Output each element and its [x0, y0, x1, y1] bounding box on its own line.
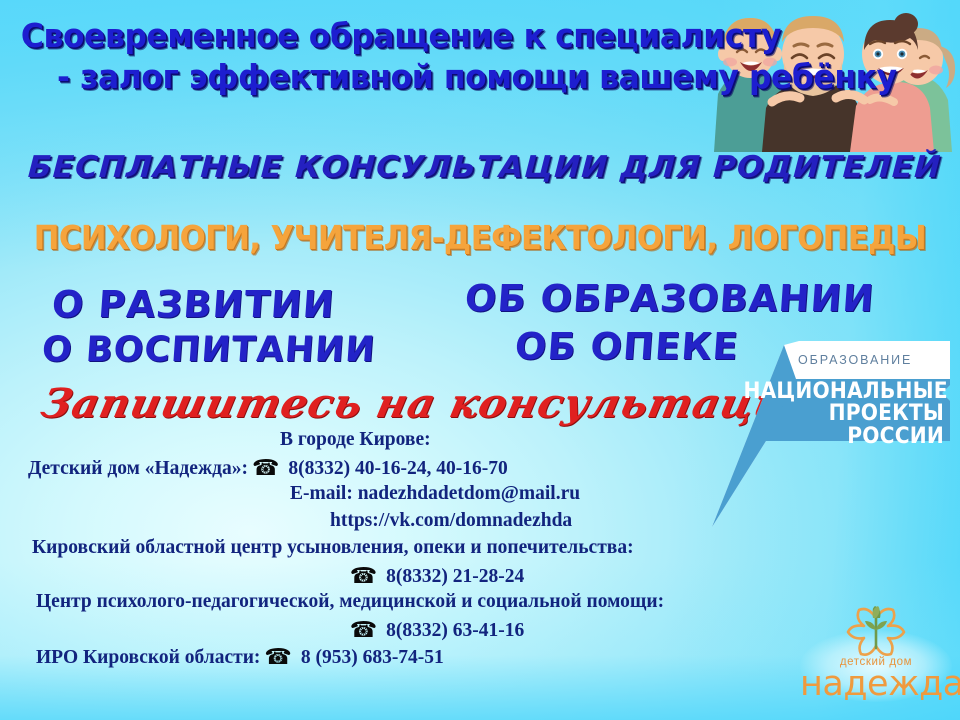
contact-psy-center-phone-row: ☎ 8(8332) 63-41-16 [0, 619, 870, 646]
contact-detdom-phone: 8(8332) 40-16-24, 40-16-70 [288, 459, 507, 479]
contact-psy-center-phone: 8(8332) 63-41-16 [386, 621, 524, 641]
logo-main-text: надежда [800, 664, 952, 704]
contact-adoption-center-label: Кировский областной центр усыновления, о… [32, 538, 634, 558]
contact-iro-row: ИРО Кировской области: ☎ 8 (953) 683-74-… [0, 646, 870, 673]
contact-city-heading: В городе Кирове: [280, 430, 431, 450]
main-headline: Своевременное обращение к специалисту - … [0, 16, 740, 97]
contact-iro-phone: 8 (953) 683-74-51 [301, 648, 444, 668]
contact-psy-center-row: Центр психолого-педагогической, медицинс… [0, 592, 870, 619]
topic-about-development: О РАЗВИТИИ [50, 283, 336, 326]
contact-email[interactable]: E-mail: nadezhdadetdom@mail.ru [290, 484, 580, 504]
specialists-headline: ПСИХОЛОГИ, УЧИТЕЛЯ-ДЕФЕКТОЛОГИ, ЛОГОПЕДЫ [34, 218, 927, 257]
topic-about-upbringing: О ВОСПИТАНИИ [41, 330, 377, 370]
topic-about-education: ОБ ОБРАЗОВАНИИ [463, 277, 875, 320]
flower-bud-icon [840, 604, 912, 664]
contact-adoption-center-row: Кировский областной центр усыновления, о… [0, 538, 870, 565]
contact-detdom-label: Детский дом «Надежда»: [28, 459, 248, 479]
badge-title-line2: ПРОЕКТЫ [743, 403, 944, 425]
badge-title-line1: НАЦИОНАЛЬНЫЕ [743, 381, 944, 403]
contact-iro-label: ИРО Кировской области: [36, 648, 260, 668]
girl-arm [870, 97, 894, 102]
contact-adoption-center-phone-row: ☎ 8(8332) 21-28-24 [0, 565, 870, 592]
badge-education-label: ОБРАЗОВАНИЕ [798, 353, 912, 367]
contact-adoption-center-phone: 8(8332) 21-28-24 [386, 567, 524, 587]
phone-icon: ☎ [350, 566, 377, 588]
main-headline-line2: - залог эффективной помощи вашему ребёнк… [0, 57, 703, 98]
free-consultations-headline: БЕСПЛАТНЫЕ КОНСУЛЬТАЦИИ ДЛЯ РОДИТЕЛЕЙ [27, 150, 942, 185]
phone-icon: ☎ [350, 620, 377, 642]
poster-canvas: Своевременное обращение к специалисту - … [0, 0, 960, 720]
phone-icon: ☎ [252, 458, 279, 480]
badge-title-line3: РОССИИ [743, 426, 944, 448]
badge-title-block: НАЦИОНАЛЬНЫЕ ПРОЕКТЫ РОССИИ [726, 381, 952, 448]
phone-icon: ☎ [264, 647, 291, 669]
contact-psy-center-label: Центр психолого-педагогической, медицинс… [36, 592, 664, 612]
main-headline-line1: Своевременное обращение к специалисту [0, 16, 703, 57]
contact-vk-link[interactable]: https://vk.com/domnadezhda [330, 511, 572, 531]
hope-orphanage-logo: детский дом надежда [800, 604, 952, 714]
national-projects-badge: ОБРАЗОВАНИЕ НАЦИОНАЛЬНЫЕ ПРОЕКТЫ РОССИИ [706, 337, 960, 533]
